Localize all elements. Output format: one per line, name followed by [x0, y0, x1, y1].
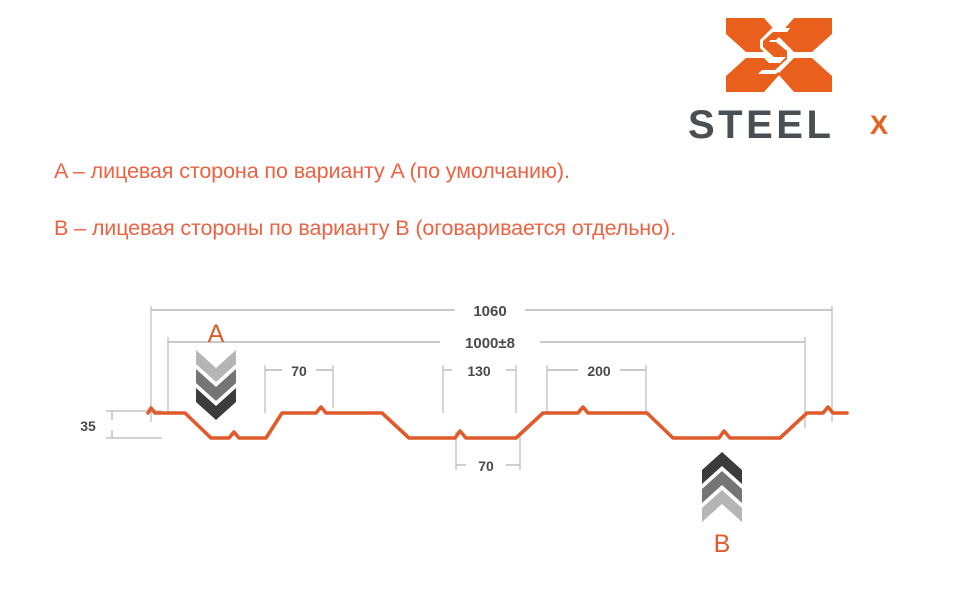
wordmark-text: STEEL — [688, 103, 834, 147]
wordmark-x: X — [870, 110, 888, 140]
dimension-labels: 1060 1000±8 70 130 200 70 35 — [80, 303, 611, 474]
dim-height: 35 — [80, 418, 96, 434]
side-b-marker: B — [702, 452, 742, 558]
chevron-down-triple-icon — [196, 350, 236, 420]
caption-variant-b: B – лицевая стороны по варианту B (огова… — [54, 216, 676, 241]
profile-drawing: 1060 1000±8 70 130 200 70 35 A B — [0, 280, 970, 570]
dim-valley-bottom-width: 70 — [478, 458, 494, 474]
dim-useful-width: 1000±8 — [465, 335, 515, 352]
corrugated-profile-line — [148, 407, 847, 438]
steelx-x-icon — [724, 14, 834, 96]
side-b-label: B — [714, 530, 731, 558]
brand-logo: STEEL X — [688, 14, 906, 144]
side-a-label: A — [208, 320, 225, 348]
chevron-up-triple-icon — [702, 452, 742, 522]
dim-total-width: 1060 — [473, 303, 506, 320]
brand-wordmark: STEEL X — [688, 102, 906, 148]
dim-crest-width: 70 — [291, 363, 307, 379]
dim-valley-top-span: 130 — [467, 363, 491, 379]
dim-pitch: 200 — [587, 363, 611, 379]
side-a-marker: A — [196, 320, 236, 420]
caption-variant-a: A – лицевая сторона по варианту A (по ум… — [54, 159, 570, 184]
